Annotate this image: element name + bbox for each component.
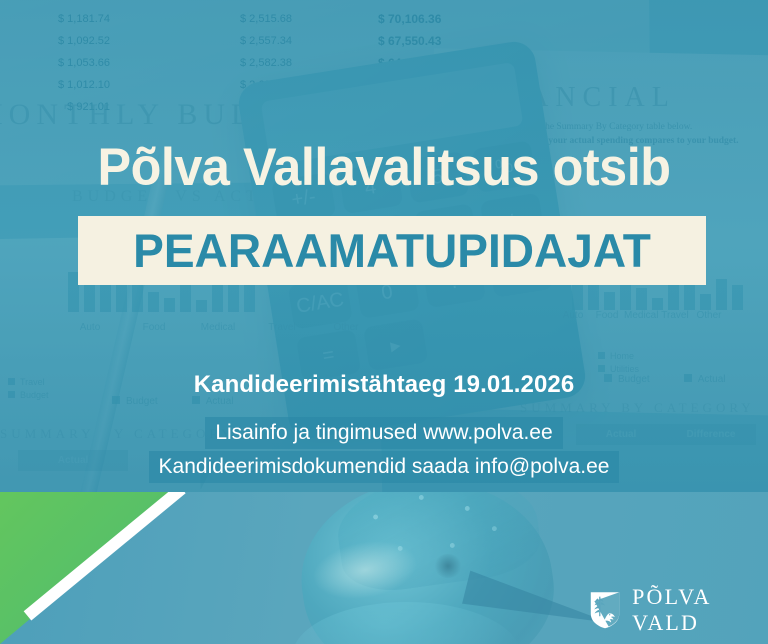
logo-text: PÕLVA VALD: [632, 584, 768, 636]
info-line-email: Kandideerimisdokumendid saada info@polva…: [149, 451, 620, 483]
coat-of-arms-shield-icon: [589, 588, 621, 632]
bird-eye: [434, 554, 462, 578]
logo[interactable]: PÕLVA VALD: [589, 584, 768, 636]
bottom-band: PÕLVA VALD: [0, 492, 768, 644]
highlight-job-title: PEARAAMATUPIDAJAT: [84, 216, 699, 285]
application-deadline: Kandideerimistähtaeg 19.01.2026: [0, 371, 768, 399]
page-title: Põlva Vallavalitsus otsib: [19, 139, 749, 197]
info-line-website: Lisainfo ja tingimused www.polva.ee: [205, 417, 562, 449]
green-triangle: [0, 492, 205, 644]
job-advert-poster: $ 1,181.74 $ 1,092.52 $ 1,053.66 $ 1,012…: [0, 0, 768, 644]
info-block: Lisainfo ja tingimused www.polva.ee Kand…: [0, 417, 768, 483]
